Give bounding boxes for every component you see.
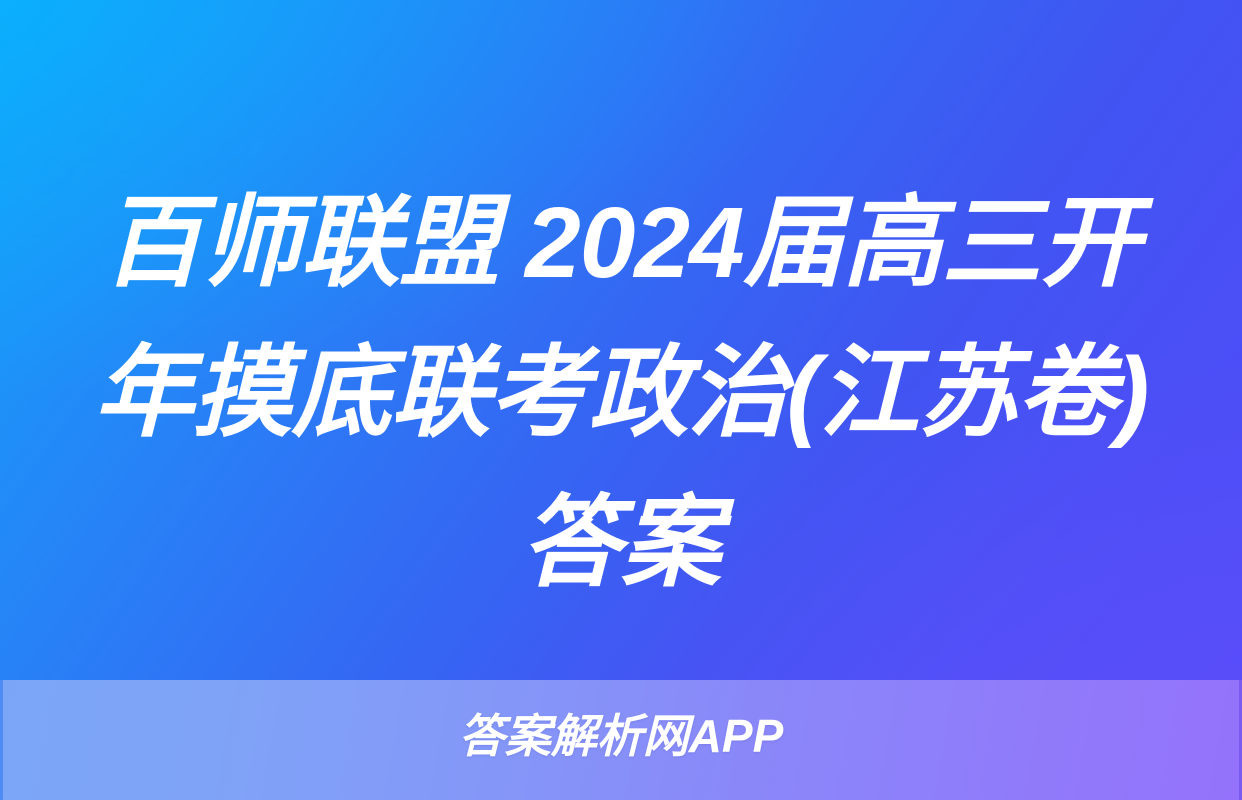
title-banner: 百师联盟 2024届高三开 年摸底联考政治(江苏卷) 答案 答案解析网APP bbox=[0, 0, 1242, 800]
title-line-2: 年摸底联考政治(江苏卷) bbox=[72, 318, 1170, 468]
watermark-band: 答案解析网APP bbox=[0, 680, 1242, 800]
title-line-3: 答案 bbox=[72, 468, 1170, 618]
page-title: 百师联盟 2024届高三开 年摸底联考政治(江苏卷) 答案 bbox=[0, 168, 1242, 618]
watermark-text: 答案解析网APP bbox=[0, 708, 1242, 764]
title-line-1: 百师联盟 2024届高三开 bbox=[72, 168, 1170, 318]
